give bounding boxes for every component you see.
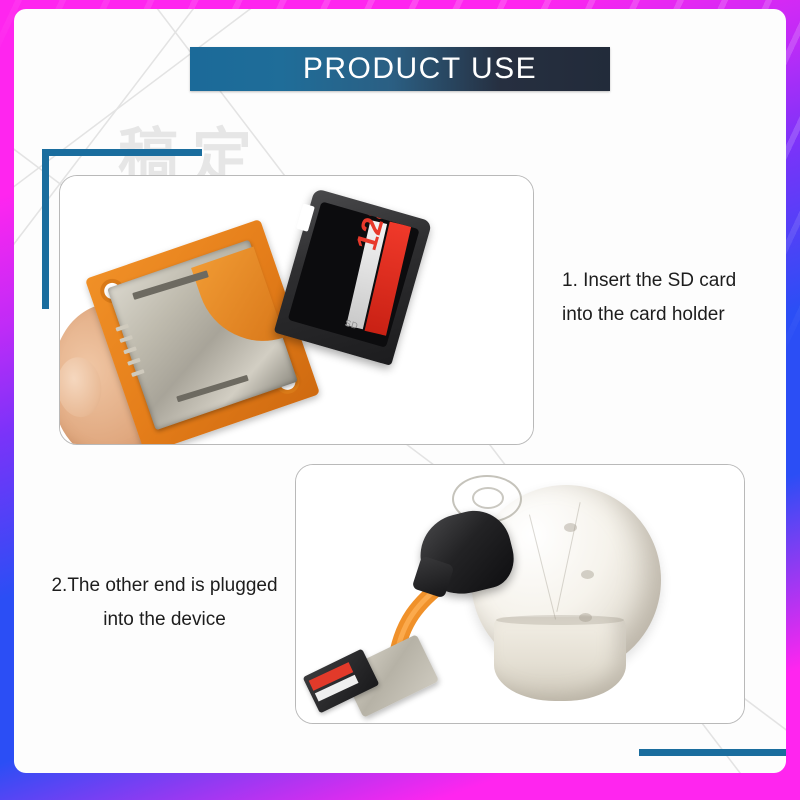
step-1-photo-card: 128GB SD (59, 175, 534, 445)
title-banner-wrapper: PRODUCT USE (14, 47, 786, 91)
holder-contact-pin (131, 369, 145, 377)
sd-card-notch (296, 203, 315, 231)
title-banner: PRODUCT USE (190, 47, 610, 91)
thumb-nail (59, 355, 104, 419)
bracket-horizontal-bar (639, 749, 786, 756)
infographic-canvas: PRODUCT USE 稿定 (14, 9, 786, 773)
corner-bracket-bottom-right (639, 602, 786, 756)
step-1-caption: 1. Insert the SD card into the card hold… (562, 264, 777, 332)
sd-card-and-holder-photo: 128GB SD (60, 176, 533, 444)
holder-contact-pin (127, 358, 141, 366)
holder-contact-pin (119, 335, 133, 343)
page-title: PRODUCT USE (263, 52, 537, 86)
sd-memory-card: 128GB SD (274, 188, 433, 366)
holder-slot (176, 375, 249, 402)
step-2-caption: 2.The other end is plugged into the devi… (32, 569, 297, 637)
metal-sd-card-holder (107, 240, 298, 431)
holder-contact-pin (123, 346, 137, 354)
holder-contact-pin (115, 324, 129, 332)
bracket-horizontal-bar (42, 149, 202, 156)
holder-corner-cutout (191, 247, 285, 359)
bracket-vertical-bar (42, 149, 49, 309)
sd-capacity-unit: GB (377, 201, 397, 206)
